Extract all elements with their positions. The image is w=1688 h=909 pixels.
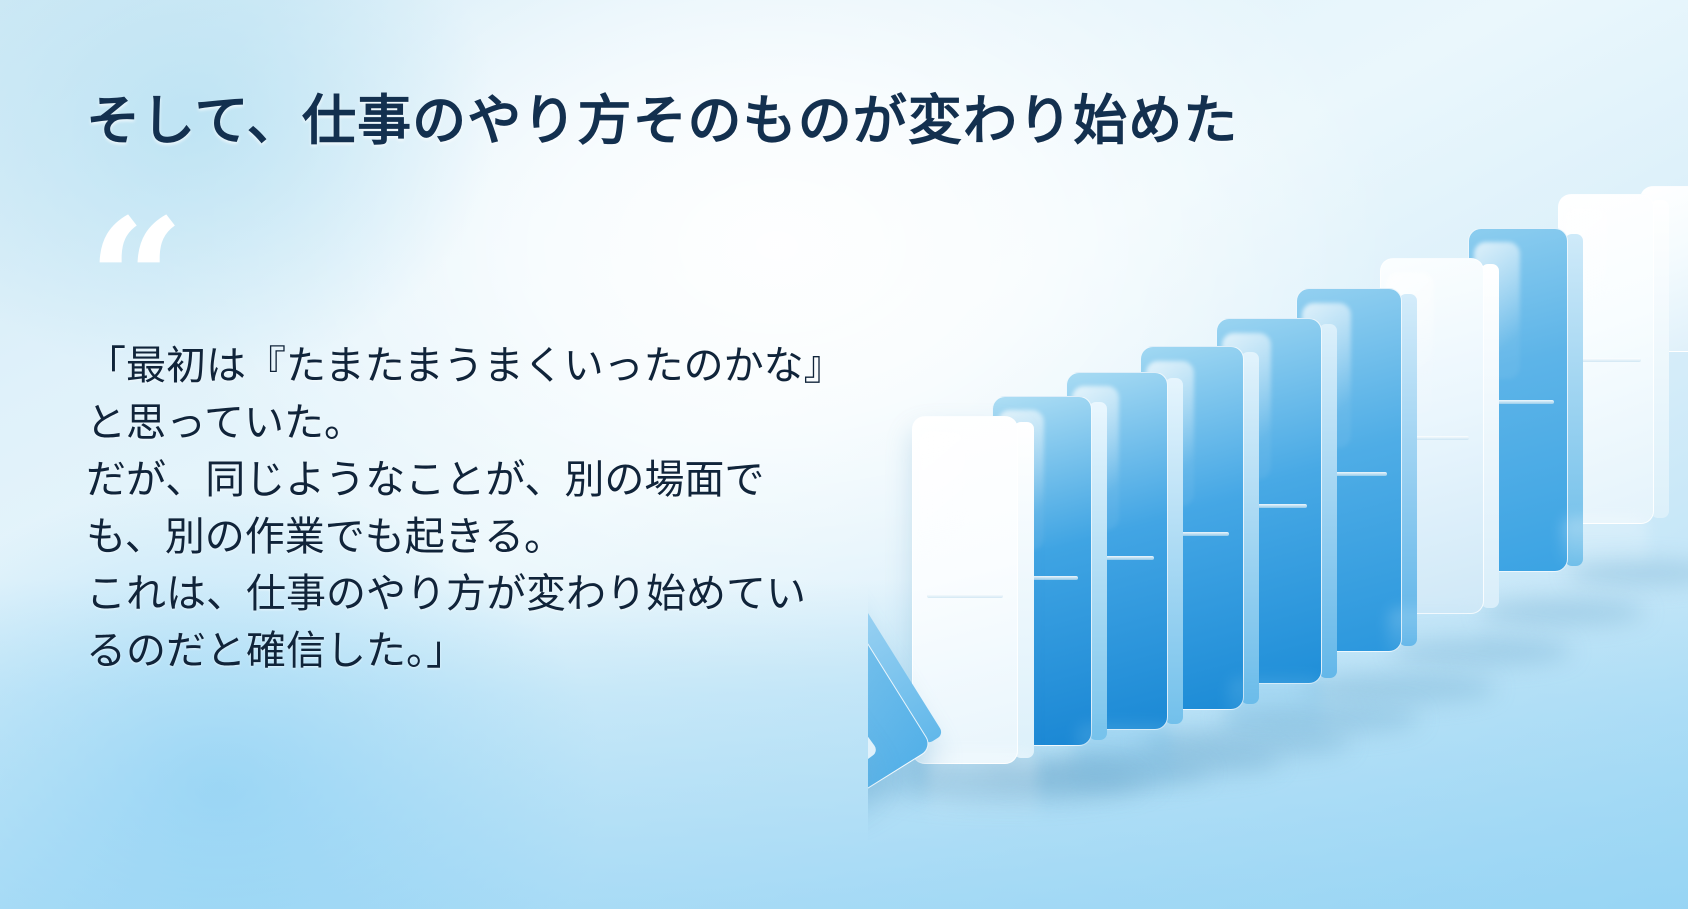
tile-shadow (1480, 598, 1645, 626)
quote-line: るのだと確信した。」 (86, 623, 946, 680)
floor-reflection (1562, 518, 1648, 570)
quote-line: も、別の作業でも起きる。 (86, 509, 946, 566)
presentation-slide: そして、仕事のやり方そのものが変わり始めた “ 「最初は『たまたまうまくいったの… (0, 0, 1688, 909)
quote-line: 「最初は『たまたまうまくいったのかな』 (86, 338, 946, 395)
floor-reflection (1388, 608, 1480, 666)
quote-line: と思っていた。 (86, 395, 946, 452)
quote-line: だが、同じようなことが、別の場面で (86, 452, 946, 509)
background-corner-top-left (0, 0, 500, 380)
page-title: そして、仕事のやり方そのものが変わり始めた (86, 76, 1238, 155)
quote-line: これは、仕事のやり方が変わり始めてい (86, 566, 946, 623)
floor-reflection (1076, 724, 1172, 794)
quote-text-block: 「最初は『たまたまうまくいったのかな』 と思っていた。 だが、同じようなことが、… (86, 338, 946, 680)
floor-reflection (1228, 678, 1322, 744)
floor-reflection (928, 752, 1038, 826)
